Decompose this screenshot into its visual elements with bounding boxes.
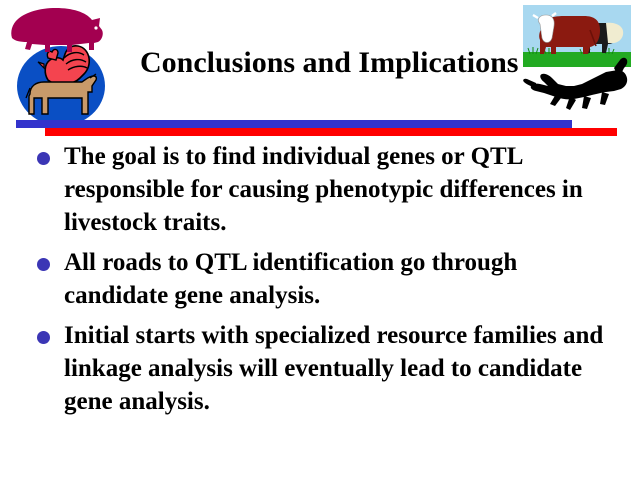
- divider-bar-red: [45, 128, 617, 136]
- list-item: All roads to QTL identification go throu…: [30, 246, 626, 312]
- presentation-slide: Conclusions and Implications The goal is…: [0, 0, 640, 480]
- pig-shape: [11, 8, 103, 52]
- page-title: Conclusions and Implications: [140, 46, 516, 80]
- livestock-species-logo: [4, 2, 116, 126]
- bullet-text: The goal is to find individual genes or …: [64, 140, 626, 239]
- pasture-photo: [523, 5, 631, 67]
- pasture-photo-and-horse: [522, 4, 634, 130]
- list-item: Initial starts with specialized resource…: [30, 319, 626, 418]
- bullet-text: All roads to QTL identification go throu…: [64, 246, 626, 312]
- bullet-circle-icon: [37, 331, 50, 344]
- bullet-circle-icon: [37, 152, 50, 165]
- divider-bar-blue: [16, 120, 572, 128]
- bullet-text: Initial starts with specialized resource…: [64, 319, 626, 418]
- bullet-circle-icon: [37, 258, 50, 271]
- list-item: The goal is to find individual genes or …: [30, 140, 626, 239]
- bullet-list: The goal is to find individual genes or …: [30, 140, 626, 425]
